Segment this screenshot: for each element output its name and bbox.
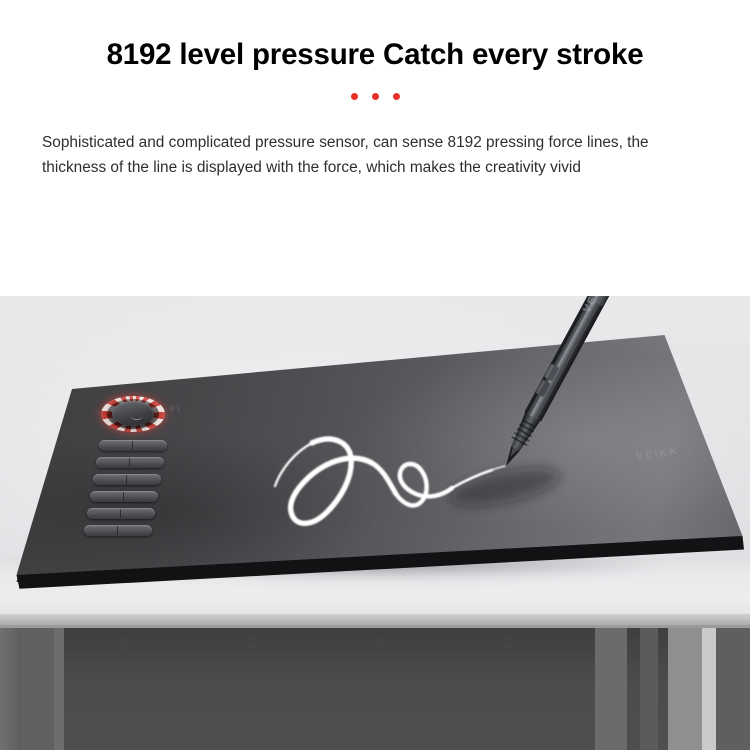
- desk-frame-bar: [640, 628, 658, 750]
- express-key-button[interactable]: [93, 474, 161, 485]
- page-title: 8192 level pressure Catch every stroke: [0, 38, 750, 72]
- description-text: Sophisticated and complicated pressure s…: [42, 130, 686, 180]
- text-panel: 8192 level pressure Catch every stroke S…: [0, 0, 750, 296]
- divider-dot: [372, 93, 379, 100]
- under-desk-area: [0, 628, 750, 750]
- express-key-button[interactable]: [90, 491, 158, 502]
- desk-frame-bar: [22, 628, 54, 750]
- divider-dot: [393, 93, 400, 100]
- express-key-button[interactable]: [96, 457, 164, 468]
- desk-frame-bar: [668, 628, 702, 750]
- three-dots-divider: [0, 93, 750, 100]
- desk-frame-bar: [716, 628, 750, 750]
- rotary-dial-control[interactable]: [101, 396, 165, 432]
- desk-frame-bar: [54, 628, 64, 750]
- dial-notch-icon: [131, 415, 143, 420]
- product-banner: 8192 level pressure Catch every stroke S…: [0, 0, 750, 750]
- express-key-button[interactable]: [84, 525, 152, 536]
- dial-label: F1: [169, 403, 182, 414]
- desk-frame-bar: [595, 628, 627, 750]
- desk-frame-bar: [702, 628, 716, 750]
- express-key-group: [85, 440, 205, 536]
- desk-frame-bar: [0, 628, 22, 750]
- dial-knob[interactable]: [112, 401, 154, 426]
- divider-dot: [351, 93, 358, 100]
- express-key-button[interactable]: [87, 508, 155, 519]
- express-key-button[interactable]: [99, 440, 167, 451]
